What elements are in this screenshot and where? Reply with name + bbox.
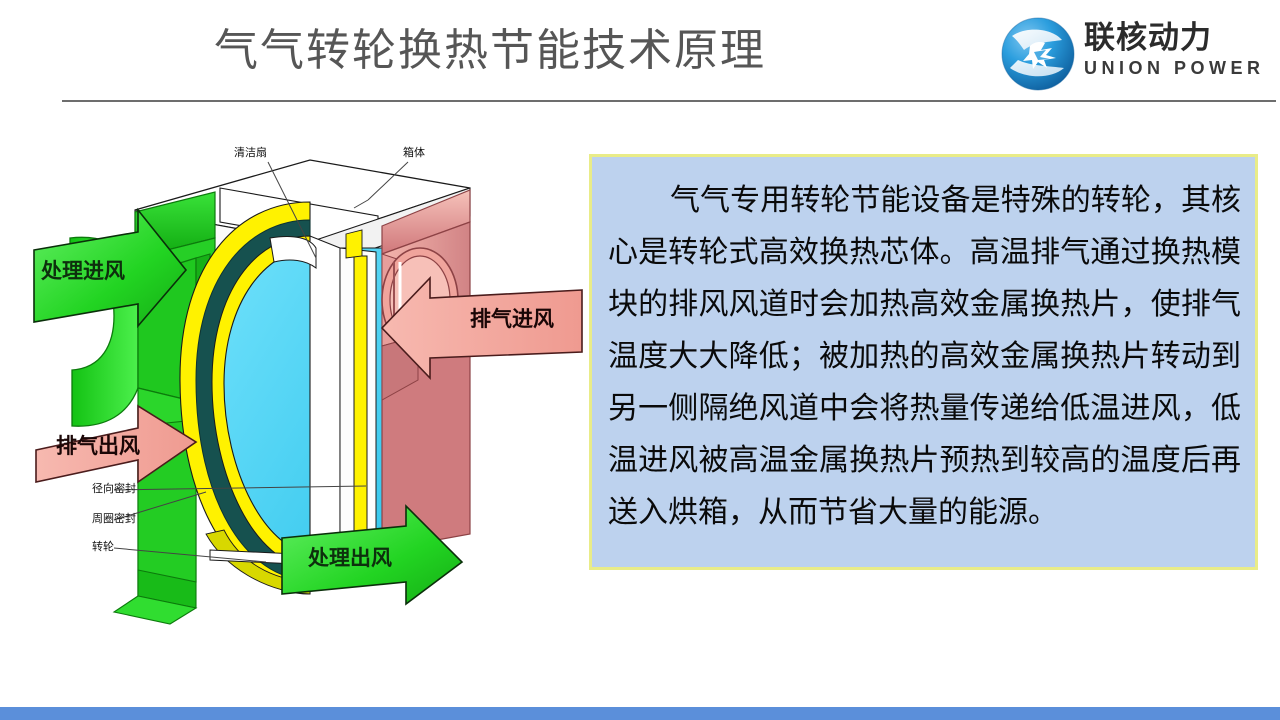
callout-radial-seal: 径向密封	[92, 482, 136, 495]
arrow-label-process-air-outlet: 处理出风	[308, 542, 392, 572]
arrow-label-exhaust-air-outlet: 排气出风	[56, 430, 140, 460]
logo-text-block: 联核动力 UNION POWER	[1084, 20, 1268, 80]
logo-name-en: UNION POWER	[1084, 56, 1268, 80]
callout-rotor: 转轮	[92, 540, 114, 553]
description-panel: 气气专用转轮节能设备是特殊的转轮，其核心是转轮式高效换热芯体。高温排气通过换热模…	[589, 154, 1258, 570]
heat-exchanger-diagram: 清洁扇 箱体 径向密封 周圈密封 转轮 处理进风 排气进风 排气出风 处理出风	[10, 130, 585, 650]
union-power-globe-icon	[1000, 16, 1076, 92]
logo-name-cn: 联核动力	[1084, 20, 1268, 56]
arrow-label-exhaust-air-inlet: 排气进风	[470, 303, 554, 333]
callout-cabinet: 箱体	[403, 146, 425, 159]
description-text: 气气专用转轮节能设备是特殊的转轮，其核心是转轮式高效换热芯体。高温排气通过换热模…	[592, 157, 1255, 539]
brand-logo: 联核动力 UNION POWER	[1000, 14, 1268, 94]
callout-clean-fan: 清洁扇	[234, 146, 267, 159]
slide-header: 气气转轮换热节能技术原理	[0, 0, 1280, 104]
header-divider	[62, 100, 1276, 102]
footer-bar	[0, 707, 1280, 720]
heat-exchanger-illustration	[10, 130, 585, 650]
callout-circumferential-seal: 周圈密封	[92, 512, 136, 525]
page-title: 气气转轮换热节能技术原理	[0, 22, 980, 80]
arrow-label-process-air-inlet: 处理进风	[41, 255, 125, 285]
